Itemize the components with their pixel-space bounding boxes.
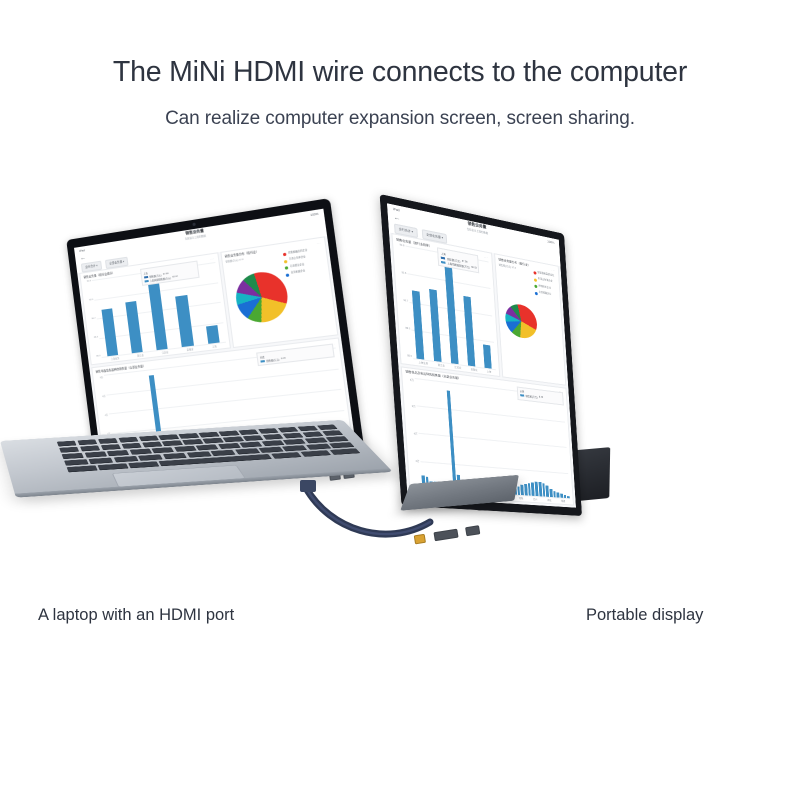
card-menu-icon[interactable]: ... [316, 240, 321, 245]
x-tick-label: 福建 [561, 499, 565, 503]
dashboard-display: iPad100%←销售业务量上海有限当前显示上周的数据业行合计 ▾全部业务量 ▾… [387, 203, 576, 507]
x-tick-label: 上海业务 [418, 359, 428, 365]
keyboard-key[interactable] [57, 441, 77, 447]
pie-chart [505, 302, 539, 340]
caption-laptop: A laptop with an HDMI port [38, 606, 234, 625]
keyboard-key[interactable] [89, 457, 114, 464]
pie-chart-legend: 销售额最高的企业市场占有率企业市场增长企业业务拓展企业 [533, 271, 558, 299]
legend-label: 业务拓展企业 [539, 292, 552, 297]
x-tick-label: 河南 [519, 496, 524, 500]
legend-swatch [520, 394, 524, 397]
x-tick-label: 安徽业 [471, 366, 478, 371]
keyboard-key[interactable] [223, 436, 244, 442]
keyboard-key[interactable] [297, 426, 318, 432]
keyboard-key[interactable] [98, 438, 118, 444]
keyboard-key[interactable] [302, 431, 324, 437]
keyboard-key[interactable] [329, 442, 354, 448]
keyboard-key[interactable] [199, 432, 220, 438]
bar-chart-bar [430, 288, 442, 361]
caption-display: Portable display [586, 606, 703, 625]
keyboard-key[interactable] [235, 448, 260, 454]
keyboard-key[interactable] [282, 445, 307, 451]
y-tick-label: 8万 [93, 375, 103, 380]
keyboard-key[interactable] [129, 449, 152, 455]
legend-dot-icon [286, 273, 290, 277]
keyboard-key[interactable] [174, 446, 197, 452]
bar-chart-bar [148, 279, 168, 350]
y-tick-label: 90.7 [86, 318, 96, 321]
keyboard-key[interactable] [219, 431, 240, 437]
x-tick-label: 浙江业 [438, 362, 445, 367]
bar-chart-bar [483, 344, 492, 368]
tooltip-value: 82.02 [172, 275, 178, 278]
tooltip-value: 82.02 [471, 266, 477, 269]
bar-chart-bar [445, 265, 459, 364]
keyboard-key[interactable] [113, 456, 138, 463]
keyboard-key[interactable] [238, 429, 259, 435]
display-port-group [413, 515, 523, 552]
legend-label: 市场占有率企业 [538, 279, 553, 285]
keyboard-key[interactable] [239, 442, 262, 448]
histogram-bar [549, 488, 552, 497]
x-tick-label: 四川 [533, 497, 538, 501]
pie-chart [233, 269, 291, 326]
keyboard-key[interactable] [162, 440, 183, 446]
y-tick-label: 2万 [408, 458, 419, 463]
legend-swatch [260, 360, 265, 363]
x-tick-label: 江苏业 [454, 364, 461, 369]
keyboard-key[interactable] [121, 443, 142, 449]
keyboard-key[interactable] [243, 435, 264, 441]
bar-chart-bar [125, 301, 143, 353]
card-menu-icon[interactable]: ... [210, 255, 215, 260]
page-subheadline: Can realize computer expansion screen, s… [0, 108, 800, 130]
x-tick-label: 浙江业 [137, 353, 144, 358]
keyboard-key[interactable] [84, 451, 106, 457]
keyboard-key[interactable] [329, 448, 360, 455]
card-pie-chart: 销售业务量分布（按行业）...销售额(万元) 37.8销售额最高的企业市场占有率… [220, 236, 339, 348]
keyboard-key[interactable] [196, 444, 219, 450]
card-bar-chart: 销售业务量（按行业排序）...92.892.590.788.386.0上海业务浙… [79, 252, 230, 365]
keyboard-key[interactable] [128, 461, 159, 468]
keyboard-key[interactable] [59, 447, 79, 453]
product-marketing-image: The MiNi HDMI wire connects to the compu… [0, 0, 800, 800]
card-menu-icon[interactable]: ... [484, 254, 488, 259]
keyboard-key[interactable] [179, 433, 200, 439]
keyboard-key[interactable] [64, 459, 88, 466]
x-tick-label: 上海 [487, 369, 492, 374]
keyboard-key[interactable] [278, 427, 299, 433]
y-tick-label: 86.0 [91, 355, 101, 358]
y-tick-label: 6万 [96, 394, 106, 399]
keyboard-key[interactable] [270, 452, 301, 459]
card-menu-icon[interactable]: ... [551, 267, 555, 272]
y-tick-label: 88.3 [399, 326, 410, 330]
tooltip-swatch [441, 260, 445, 263]
legend-label: 销售额最高的企业 [288, 250, 307, 256]
dashboard-grid: 销售业务量（按行业排序）...92.892.590.788.386.0上海业务浙… [389, 232, 576, 507]
display-screen: iPad100%←销售业务量上海有限当前显示上周的数据业行合计 ▾全部业务量 ▾… [387, 203, 576, 507]
y-tick-label: 92.5 [395, 271, 406, 275]
legend-label: 市场增长企业 [538, 285, 551, 290]
legend-label: 市场增长企业 [290, 264, 305, 269]
x-tick-label: 安徽业 [186, 347, 193, 352]
keyboard-key[interactable] [138, 436, 159, 442]
keyboard-key[interactable] [151, 447, 174, 453]
keyboard-key[interactable] [162, 453, 187, 460]
keyboard-key[interactable] [142, 442, 163, 448]
y-tick-label: 88.3 [88, 336, 98, 339]
keyboard-key[interactable] [159, 434, 180, 440]
bar-chart-bar [412, 291, 424, 359]
keyboard-key[interactable] [67, 465, 98, 472]
page-headline: The MiNi HDMI wire connects to the compu… [0, 56, 800, 89]
keyboard-key[interactable] [77, 439, 97, 445]
pie-chart-legend: 销售额最高的企业市场占有率企业市场增长企业业务拓展企业 [283, 247, 326, 276]
legend-dot-icon [285, 266, 289, 270]
histogram-bar [447, 390, 457, 491]
keyboard-key[interactable] [304, 437, 327, 443]
legend-label: 销售额(万元) [266, 357, 280, 363]
y-tick-label: 4万 [406, 431, 417, 436]
tooltip-swatch [144, 279, 148, 282]
keyboard-key[interactable] [138, 454, 163, 461]
keyboard-key[interactable] [306, 443, 331, 449]
y-tick-label: 90.7 [397, 299, 408, 303]
keyboard-key[interactable] [300, 450, 331, 457]
bar-chart-bar [176, 295, 194, 347]
legend-dot-icon [283, 253, 287, 257]
y-tick-label: 92.8 [81, 280, 91, 283]
keyboard-key[interactable] [187, 451, 212, 457]
keyboard-key[interactable] [263, 434, 284, 440]
display-panel: iPad100%←销售业务量上海有限当前显示上周的数据业行合计 ▾全部业务量 ▾… [380, 194, 582, 516]
keyboard-key[interactable] [101, 444, 122, 450]
bar-chart-bar [101, 308, 118, 356]
laptop-webcam-icon [192, 223, 195, 227]
keyboard-key[interactable] [182, 439, 203, 445]
card-pie-chart: 销售业务量分布（按行业）...销售额(万元) 37.8销售额最高的企业市场占有率… [494, 253, 566, 385]
keyboard-key[interactable] [322, 430, 344, 436]
card-bar-chart: 销售业务量（按行业排序）...92.892.590.788.386.0上海业务浙… [391, 233, 500, 377]
keyboard-key[interactable] [97, 463, 128, 470]
y-tick-label: 4万 [98, 413, 108, 418]
keyboard-key[interactable] [80, 445, 101, 451]
keyboard-key[interactable] [118, 437, 138, 443]
legend-dot-icon [534, 291, 537, 295]
bar-chart-bar [206, 325, 220, 343]
keyboard-key[interactable] [62, 453, 84, 459]
keyboard-key[interactable] [283, 439, 306, 445]
x-tick-label: 江苏业 [161, 350, 168, 355]
legend-value: 8.29 [281, 357, 286, 360]
legend-label: 市场占有率企业 [289, 257, 306, 262]
legend-value: 8.29 [539, 396, 543, 399]
keyboard-key[interactable] [317, 425, 338, 431]
x-tick-label: 湖北 [547, 498, 551, 502]
keyboard-key[interactable] [211, 450, 236, 456]
legend-dot-icon [534, 278, 537, 282]
cable-connector-laptop [300, 480, 316, 492]
legend-label: 业务拓展企业 [291, 271, 306, 276]
keyboard-key[interactable] [325, 436, 348, 442]
x-tick-label: 上海 [212, 344, 217, 349]
keyboard-key[interactable] [282, 433, 303, 439]
y-tick-label: 6万 [404, 403, 415, 409]
legend-dot-icon [533, 271, 536, 275]
y-tick-label: 92.5 [84, 299, 94, 302]
legend-dot-icon [284, 260, 288, 264]
display-usb-c-port-2 [465, 525, 480, 536]
keyboard-key[interactable] [203, 438, 224, 444]
legend-label: 销售额(万元) [525, 394, 537, 400]
keyboard-key[interactable] [258, 447, 283, 453]
keyboard-key[interactable] [258, 428, 279, 434]
legend-dot-icon [534, 285, 537, 289]
x-tick-label: 上海业务 [111, 356, 120, 361]
keyboard-key[interactable] [107, 450, 129, 456]
display-usb-c-port-1 [433, 529, 458, 542]
y-tick-label: 86.0 [401, 354, 412, 358]
display-mini-hdmi-port [414, 534, 426, 545]
portable-display-device: iPad100%←销售业务量上海有限当前显示上周的数据业行合计 ▾全部业务量 ▾… [392, 236, 692, 566]
keyboard-key[interactable] [261, 440, 284, 446]
y-tick-label: 8万 [402, 376, 413, 382]
bar-chart-bar [464, 295, 476, 366]
keyboard-key[interactable] [217, 443, 240, 449]
